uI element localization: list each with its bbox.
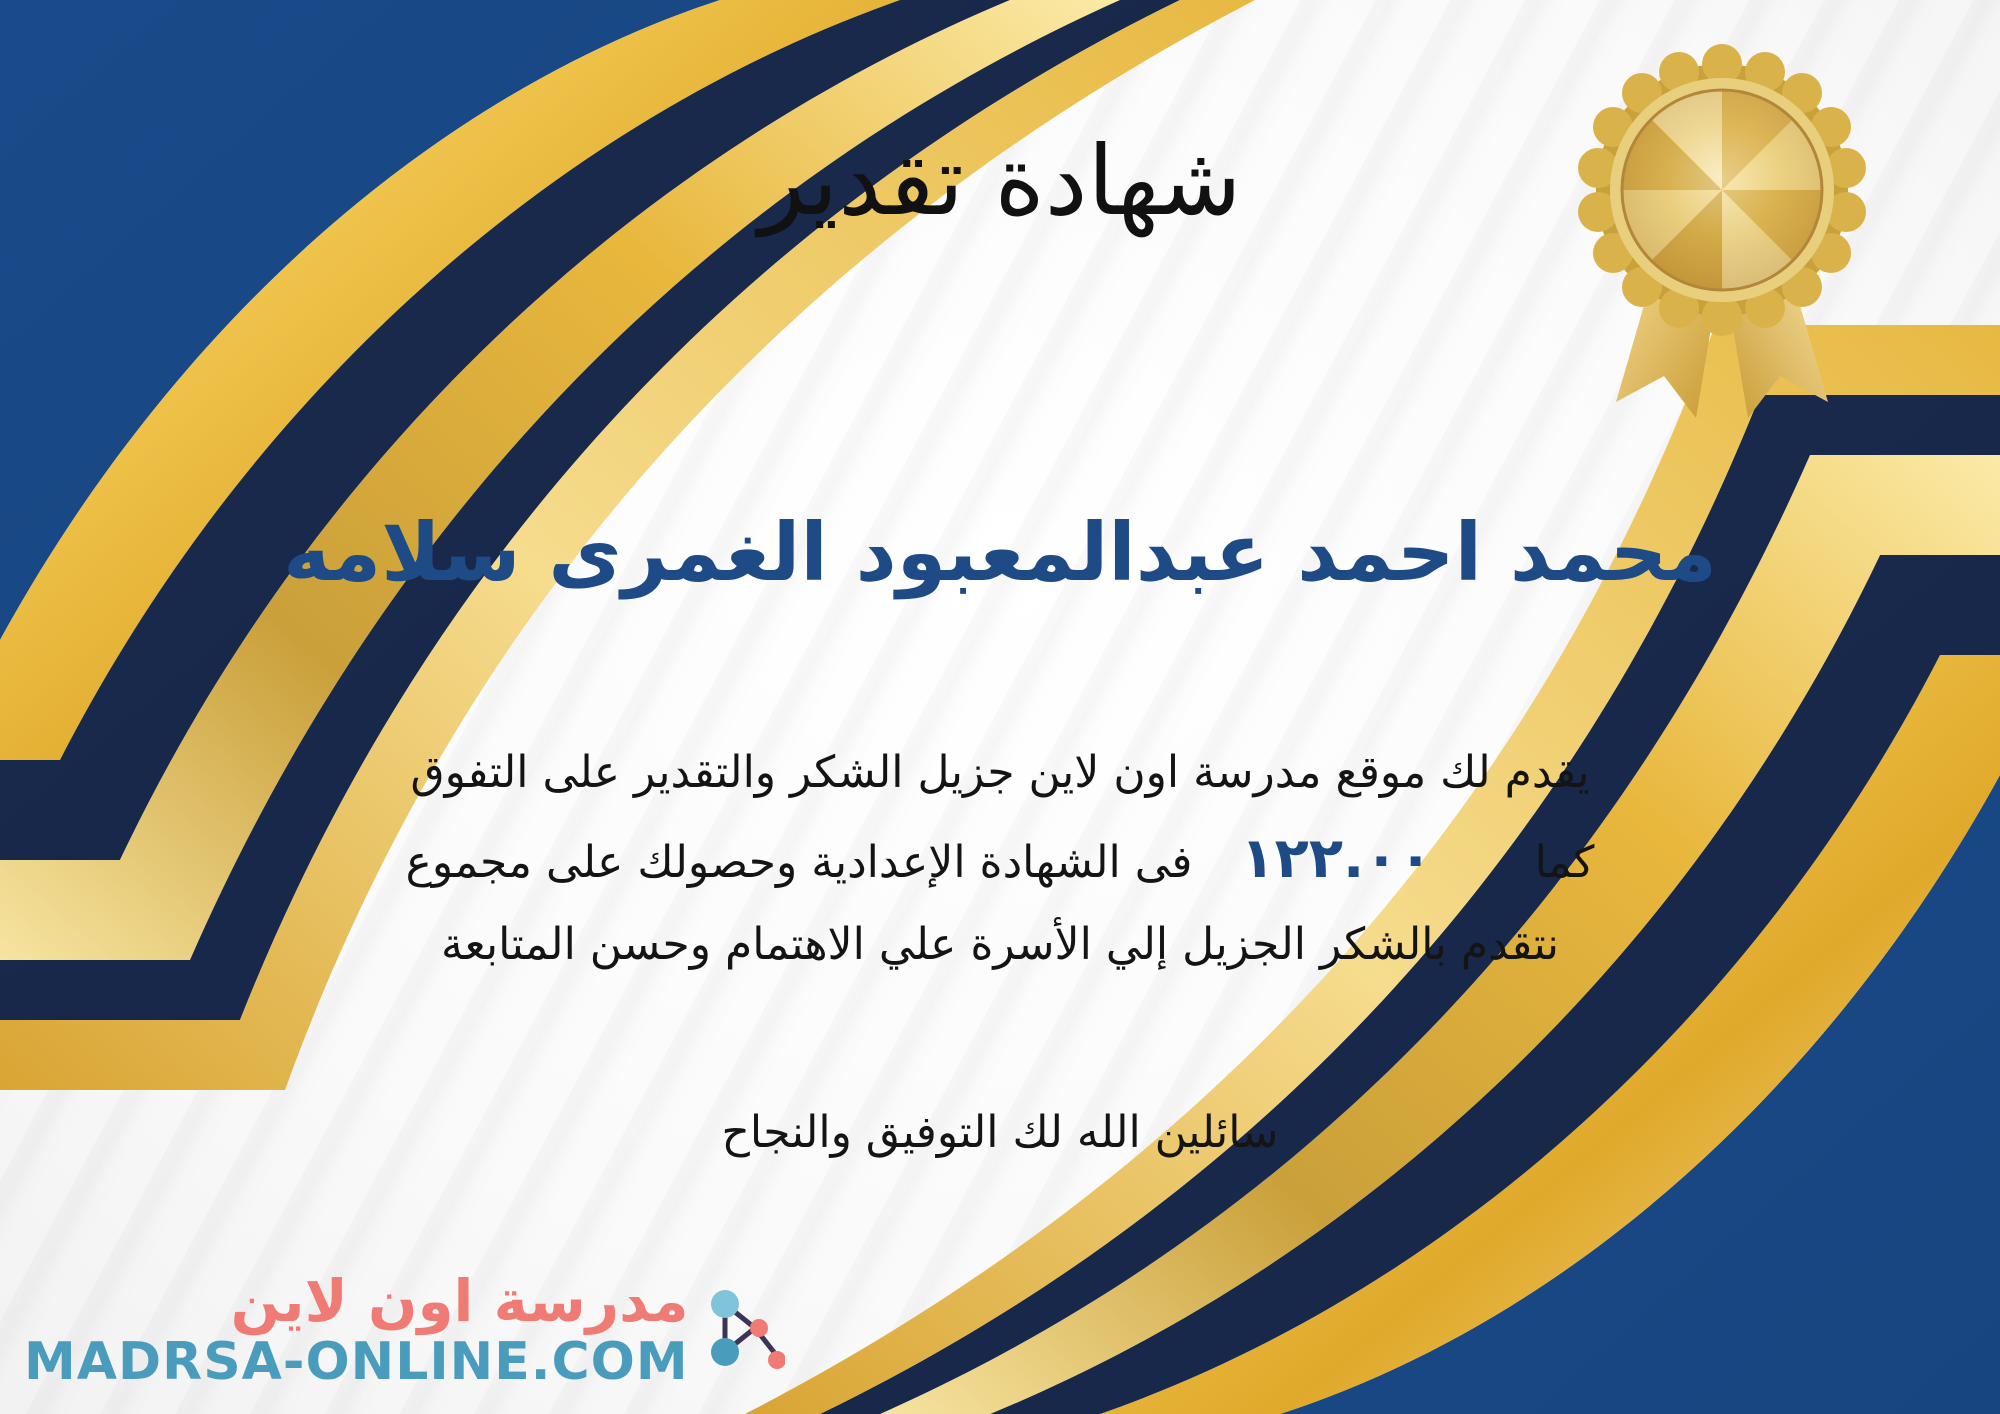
brand-logo[interactable]: مدرسة اون لاين MADRSA-ONLINE.COM	[24, 1272, 785, 1388]
certificate-content: شهادة تقدير محمد احمد عبدالمعبود الغمرى …	[0, 0, 2000, 1414]
body-line-2-prefix: فى الشهادة الإعدادية وحصولك على مجموع	[406, 837, 1193, 888]
grade-total-value: ١٢٢.٠٠	[1206, 826, 1466, 891]
certificate-canvas: شهادة تقدير محمد احمد عبدالمعبود الغمرى …	[0, 0, 2000, 1414]
closing-line: سائلين الله لك التوفيق والنجاح	[0, 1098, 2000, 1168]
body-line-2: كما ١٢٢.٠٠ فى الشهادة الإعدادية وحصولك ع…	[55, 811, 1945, 907]
body-line-3: نتقدم بالشكر الجزيل إلي الأسرة علي الاهت…	[55, 907, 1945, 983]
brand-website-url[interactable]: MADRSA-ONLINE.COM	[24, 1336, 689, 1388]
certificate-body: يقدم لك موقع مدرسة اون لاين جزيل الشكر و…	[55, 735, 1945, 983]
body-line-1: يقدم لك موقع مدرسة اون لاين جزيل الشكر و…	[55, 735, 1945, 811]
recipient-name: محمد احمد عبدالمعبود الغمرى سلامه	[0, 505, 2000, 601]
network-nodes-icon	[699, 1282, 785, 1378]
brand-arabic-name: مدرسة اون لاين	[231, 1272, 689, 1330]
body-line-2-suffix: كما	[1535, 837, 1595, 888]
certificate-title: شهادة تقدير	[0, 128, 2000, 236]
brand-text-group: مدرسة اون لاين MADRSA-ONLINE.COM	[24, 1272, 689, 1388]
